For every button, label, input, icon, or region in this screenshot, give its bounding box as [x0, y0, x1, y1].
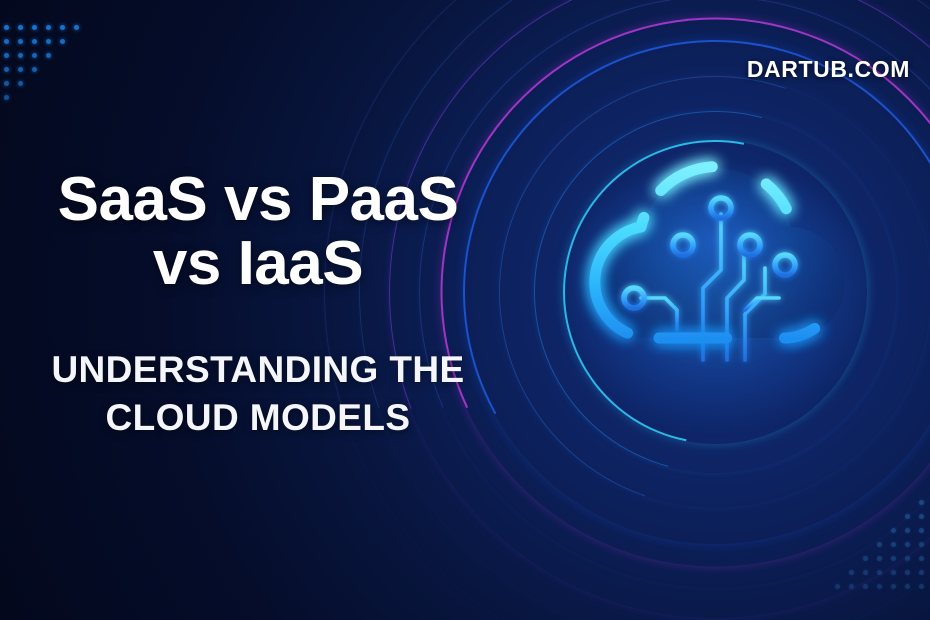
dot-grid-bottom-right-row — [826, 542, 924, 556]
grid-dot — [905, 514, 910, 519]
grid-dot — [919, 528, 924, 533]
grid-dot — [919, 570, 924, 575]
dot-grid-top-left-row — [4, 81, 88, 95]
dot-grid-bottom-right-row — [826, 570, 924, 584]
dot-grid-top-left — [4, 25, 88, 109]
grid-dot — [60, 39, 65, 44]
grid-dot — [4, 39, 9, 44]
grid-dot — [905, 570, 910, 575]
grid-dot — [891, 528, 896, 533]
grid-dot — [4, 95, 9, 100]
grid-dot — [863, 570, 868, 575]
title-line-1: SaaS vs PaaS — [58, 165, 459, 234]
grid-dot — [32, 25, 37, 30]
grid-dot — [46, 53, 51, 58]
dot-grid-bottom-right — [826, 500, 924, 598]
subtitle-line-2: CLOUD MODELS — [0, 394, 516, 442]
grid-dot — [849, 570, 854, 575]
grid-dot — [18, 39, 23, 44]
grid-dot — [919, 542, 924, 547]
page-title: SaaS vs PaaS vs IaaS — [0, 168, 516, 297]
grid-dot — [863, 556, 868, 561]
grid-dot — [891, 570, 896, 575]
grid-dot — [919, 514, 924, 519]
grid-dot — [60, 25, 65, 30]
grid-dot — [877, 570, 882, 575]
grid-dot — [919, 500, 924, 505]
grid-dot — [74, 25, 79, 30]
grid-dot — [863, 584, 868, 589]
grid-dot — [4, 67, 9, 72]
title-line-2: vs IaaS — [0, 232, 516, 296]
grid-dot — [891, 584, 896, 589]
page-subtitle: UNDERSTANDING THE CLOUD MODELS — [0, 346, 516, 442]
dot-grid-bottom-right-row — [826, 584, 924, 598]
grid-dot — [18, 53, 23, 58]
grid-dot — [4, 53, 9, 58]
grid-dot — [877, 542, 882, 547]
grid-dot — [919, 584, 924, 589]
cloud-circuit-icon — [517, 128, 917, 458]
grid-dot — [891, 556, 896, 561]
grid-dot — [835, 584, 840, 589]
grid-dot — [32, 39, 37, 44]
watermark-brand: DARTUB.COM — [747, 56, 910, 83]
grid-dot — [849, 584, 854, 589]
grid-dot — [32, 67, 37, 72]
dot-grid-top-left-row — [4, 95, 88, 109]
grid-dot — [4, 81, 9, 86]
grid-dot — [4, 25, 9, 30]
dot-grid-top-left-row — [4, 67, 88, 81]
grid-dot — [18, 81, 23, 86]
title-card-canvas: SaaS vs PaaS vs IaaS UNDERSTANDING THE C… — [0, 0, 930, 620]
grid-dot — [905, 556, 910, 561]
grid-dot — [905, 528, 910, 533]
grid-dot — [877, 556, 882, 561]
grid-dot — [46, 25, 51, 30]
grid-dot — [905, 542, 910, 547]
cloud-circuit-graphic — [517, 128, 917, 458]
grid-dot — [46, 39, 51, 44]
grid-dot — [877, 584, 882, 589]
grid-dot — [32, 53, 37, 58]
dot-grid-top-left-row — [4, 53, 88, 67]
grid-dot — [919, 556, 924, 561]
grid-dot — [905, 584, 910, 589]
dot-grid-bottom-right-row — [826, 528, 924, 542]
dot-grid-bottom-right-row — [826, 500, 924, 514]
subtitle-line-1: UNDERSTANDING THE — [51, 349, 464, 390]
dot-grid-bottom-right-row — [826, 556, 924, 570]
dot-grid-top-left-row — [4, 25, 88, 39]
dot-grid-bottom-right-row — [826, 514, 924, 528]
grid-dot — [18, 67, 23, 72]
grid-dot — [891, 542, 896, 547]
grid-dot — [18, 25, 23, 30]
dot-grid-top-left-row — [4, 39, 88, 53]
